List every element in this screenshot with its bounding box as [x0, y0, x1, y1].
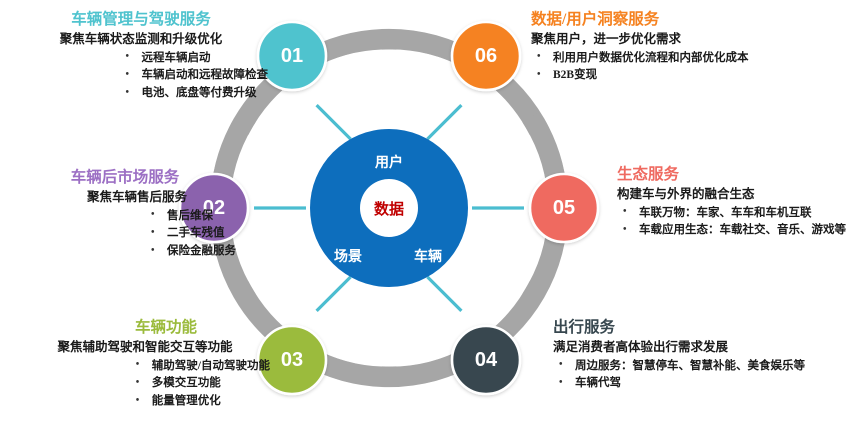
- block-b6-subtitle: 聚焦用户，进一步优化需求: [531, 31, 847, 47]
- node-03-number: 03: [281, 349, 303, 371]
- node-01[interactable]: 01: [258, 22, 326, 90]
- spoke-03: [317, 277, 351, 311]
- block-mobility-service: 出行服务 满足消费者高体验出行需求发展 周边服务：智慧停车、智慧补能、美食娱乐等…: [553, 318, 852, 393]
- node-04-number: 04: [475, 349, 498, 371]
- list-item: 二手车残值: [145, 225, 236, 243]
- hub-label-user: 用户: [375, 152, 403, 172]
- list-item: 多模交互功能: [130, 375, 270, 393]
- list-item: 利用用户数据优化流程和内部优化成本: [531, 50, 847, 68]
- spoke-06: [428, 105, 462, 139]
- list-item: 车辆代驾: [553, 375, 852, 393]
- block-b6-title: 数据/用户洞察服务: [531, 10, 847, 29]
- block-b1-bullets: 远程车辆启动 车辆启动和远程故障检查 电池、底盘等付费升级: [86, 50, 269, 103]
- block-b2-subtitle: 聚焦车辆售后服务: [14, 189, 236, 205]
- block-b1-title: 车辆管理与驾驶服务: [18, 10, 268, 29]
- list-item: 远程车辆启动: [120, 50, 269, 68]
- node-04[interactable]: 04: [452, 326, 520, 394]
- list-item: 车联万物：车家、车车和车机互联: [617, 205, 852, 223]
- node-05[interactable]: 05: [530, 174, 598, 242]
- block-b5-bullets: 车联万物：车家、车车和车机互联 车载应用生态：车载社交、音乐、游戏等: [617, 205, 852, 241]
- list-item: 周边服务：智慧停车、智慧补能、美食娱乐等: [553, 358, 852, 376]
- hub-label-scene: 场景: [334, 246, 362, 266]
- block-b5-title: 生态服务: [617, 165, 852, 184]
- block-b3-bullets: 辅助驾驶/自动驾驶功能 多模交互功能 能量管理优化: [100, 358, 270, 411]
- block-aftermarket-service: 车辆后市场服务 聚焦车辆售后服务 售后维保 二手车残值 保险金融服务: [14, 168, 236, 261]
- block-ecosystem-service: 生态服务 构建车与外界的融合生态 车联万物：车家、车车和车机互联 车载应用生态：…: [617, 165, 852, 240]
- node-05-number: 05: [553, 197, 575, 219]
- diagram-canvas: 01 06 02 05 03 04 用户 场: [0, 0, 852, 441]
- block-b4-bullets: 周边服务：智慧停车、智慧补能、美食娱乐等 车辆代驾: [553, 358, 852, 394]
- hub-label-data: 数据: [374, 198, 404, 219]
- node-06-number: 06: [475, 45, 497, 67]
- spoke-01: [317, 105, 351, 139]
- block-b3-title: 车辆功能: [12, 318, 270, 337]
- block-data-user-insight: 数据/用户洞察服务 聚焦用户，进一步优化需求 利用用户数据优化流程和内部优化成本…: [531, 10, 847, 85]
- spoke-04: [428, 277, 462, 311]
- block-b1-subtitle: 聚焦车辆状态监测和升级优化: [18, 31, 268, 47]
- block-b4-subtitle: 满足消费者高体验出行需求发展: [553, 339, 852, 355]
- list-item: 辅助驾驶/自动驾驶功能: [130, 358, 270, 376]
- block-b2-title: 车辆后市场服务: [14, 168, 236, 187]
- node-06[interactable]: 06: [452, 22, 520, 90]
- list-item: B2B变现: [531, 67, 847, 85]
- block-vehicle-management: 车辆管理与驾驶服务 聚焦车辆状态监测和升级优化 远程车辆启动 车辆启动和远程故障…: [18, 10, 268, 103]
- hub-label-vehicle: 车辆: [414, 246, 442, 266]
- list-item: 能量管理优化: [130, 393, 270, 411]
- block-b5-subtitle: 构建车与外界的融合生态: [617, 186, 852, 202]
- list-item: 售后维保: [145, 208, 236, 226]
- node-01-number: 01: [281, 45, 303, 67]
- block-vehicle-functions: 车辆功能 聚焦辅助驾驶和智能交互等功能 辅助驾驶/自动驾驶功能 多模交互功能 能…: [12, 318, 270, 411]
- list-item: 保险金融服务: [145, 243, 236, 261]
- block-b2-bullets: 售后维保 二手车残值 保险金融服务: [99, 208, 236, 261]
- list-item: 电池、底盘等付费升级: [120, 85, 269, 103]
- block-b3-subtitle: 聚焦辅助驾驶和智能交互等功能: [12, 339, 270, 355]
- block-b4-title: 出行服务: [553, 318, 852, 337]
- block-b6-bullets: 利用用户数据优化流程和内部优化成本 B2B变现: [531, 50, 847, 86]
- list-item: 车载应用生态：车载社交、音乐、游戏等: [617, 222, 852, 240]
- list-item: 车辆启动和远程故障检查: [120, 67, 269, 85]
